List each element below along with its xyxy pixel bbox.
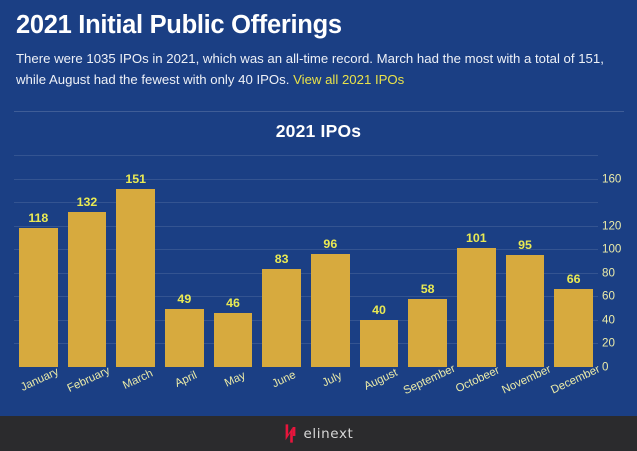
- x-tick-slot: June: [257, 367, 306, 417]
- x-tick-slot: September: [403, 367, 452, 417]
- bar-value-label: 96: [306, 237, 355, 251]
- view-all-ipos-link[interactable]: View all 2021 IPOs: [293, 72, 404, 87]
- x-tick-label: August: [362, 367, 399, 393]
- bar[interactable]: [554, 289, 593, 367]
- x-tick-label: January: [19, 366, 61, 394]
- x-tick-label: May: [223, 370, 248, 390]
- x-axis: JanuaryFebruaryMarchAprilMayJuneJulyAugu…: [14, 367, 598, 417]
- x-tick-label: June: [270, 369, 297, 390]
- bar-value-label: 95: [501, 238, 550, 252]
- y-tick-label: 120: [602, 219, 621, 232]
- chart-infographic: 2021 Initial Public Offerings There were…: [0, 0, 637, 451]
- footer: elinext: [0, 416, 637, 451]
- x-tick-label: September: [401, 363, 457, 397]
- bar-value-label: 58: [403, 282, 452, 296]
- x-tick-slot: August: [355, 367, 404, 417]
- elinext-n-logo-icon: [284, 424, 297, 443]
- bar-slot: 96: [306, 155, 355, 367]
- bar-slot: 46: [209, 155, 258, 367]
- x-tick-slot: January: [14, 367, 63, 417]
- chart-title: 2021 IPOs: [0, 121, 637, 142]
- bar[interactable]: [408, 299, 447, 367]
- y-tick-label: 40: [602, 313, 615, 326]
- bar[interactable]: [116, 189, 155, 367]
- x-tick-slot: May: [209, 367, 258, 417]
- x-tick-label: July: [321, 370, 344, 389]
- bar[interactable]: [19, 228, 58, 367]
- logo-text: elinext: [304, 426, 354, 442]
- x-tick-slot: April: [160, 367, 209, 417]
- bar-slot: 66: [549, 155, 598, 367]
- bar-value-label: 46: [209, 296, 258, 310]
- x-tick-slot: March: [111, 367, 160, 417]
- bar-value-label: 66: [549, 272, 598, 286]
- plot-area: 1181321514946839640581019566: [14, 155, 598, 367]
- bar-slot: 49: [160, 155, 209, 367]
- bar-slot: 95: [501, 155, 550, 367]
- bar-value-label: 83: [257, 252, 306, 266]
- y-tick-label: 20: [602, 337, 615, 350]
- bar-slot: 83: [257, 155, 306, 367]
- bar-slot: 58: [403, 155, 452, 367]
- bar-value-label: 151: [111, 172, 160, 186]
- bar-value-label: 101: [452, 231, 501, 245]
- description: There were 1035 IPOs in 2021, which was …: [16, 48, 621, 91]
- bar-slot: 132: [63, 155, 112, 367]
- y-tick-label: 80: [602, 266, 615, 279]
- x-tick-label: April: [174, 369, 200, 390]
- bar[interactable]: [506, 255, 545, 367]
- bar[interactable]: [214, 313, 253, 367]
- y-tick-label: 60: [602, 290, 615, 303]
- bar-value-label: 132: [63, 195, 112, 209]
- x-tick-label: March: [121, 368, 155, 392]
- y-axis: 160120100806040200: [602, 155, 636, 367]
- x-tick-label: December: [549, 363, 602, 396]
- x-tick-slot: Octobeer: [452, 367, 501, 417]
- bar[interactable]: [311, 254, 350, 367]
- chart-container: 2021 IPOs 1181321514946839640581019566 1…: [0, 112, 637, 406]
- x-tick-slot: February: [63, 367, 112, 417]
- bar-slot: 40: [355, 155, 404, 367]
- y-tick-label: 160: [602, 172, 621, 185]
- bar[interactable]: [360, 320, 399, 367]
- bar-slot: 151: [111, 155, 160, 367]
- y-tick-label: 0: [602, 361, 608, 374]
- bar-value-label: 40: [355, 303, 404, 317]
- page-title: 2021 Initial Public Offerings: [16, 12, 621, 39]
- x-tick-slot: December: [549, 367, 598, 417]
- bar[interactable]: [68, 212, 107, 367]
- x-tick-label: Octobeer: [454, 364, 502, 395]
- bar-slot: 118: [14, 155, 63, 367]
- y-tick-label: 100: [602, 243, 621, 256]
- x-tick-label: February: [65, 365, 111, 395]
- x-tick-slot: July: [306, 367, 355, 417]
- bar[interactable]: [457, 248, 496, 367]
- bar[interactable]: [165, 309, 204, 367]
- x-tick-label: November: [500, 363, 553, 396]
- header: 2021 Initial Public Offerings There were…: [0, 0, 637, 112]
- x-tick-slot: November: [501, 367, 550, 417]
- bar-value-label: 118: [14, 211, 63, 225]
- bar-value-label: 49: [160, 292, 209, 306]
- bar-slot: 101: [452, 155, 501, 367]
- bar-series: 1181321514946839640581019566: [14, 155, 598, 367]
- bar[interactable]: [262, 269, 301, 367]
